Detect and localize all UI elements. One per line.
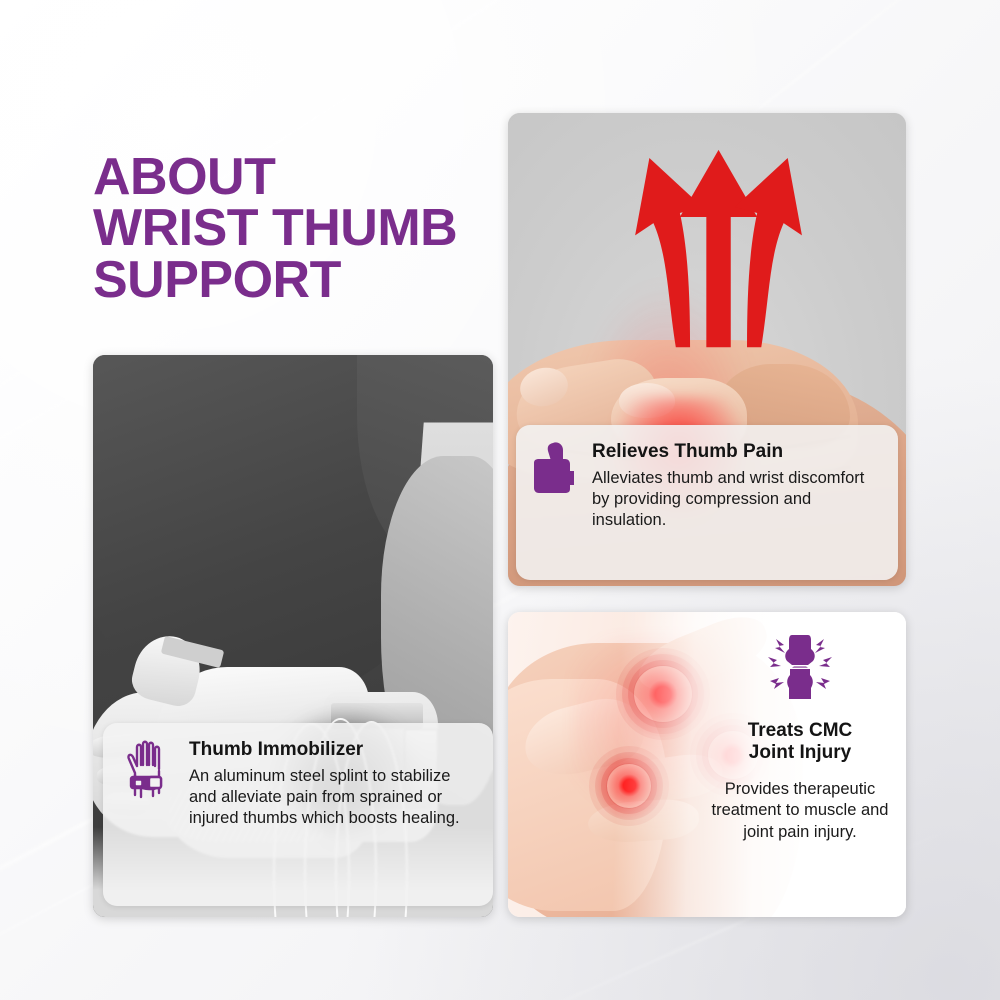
card-title: Thumb Immobilizer <box>189 739 475 762</box>
page-title: ABOUT WRIST THUMB SUPPORT <box>93 152 563 306</box>
joint-pain-icon <box>762 631 838 708</box>
wrist-brace-icon <box>532 441 578 500</box>
page-title-line-3: SUPPORT <box>93 255 563 306</box>
card-text-block: Relieves Thumb Pain Alleviates thumb and… <box>592 441 880 531</box>
card-title: Treats CMC Joint Injury <box>748 720 853 765</box>
card-title-line-1: Treats CMC <box>748 720 853 742</box>
page-title-line-1: ABOUT <box>93 152 563 203</box>
arrow-right-icon <box>735 158 802 347</box>
pain-relief-arrows-group <box>627 132 810 359</box>
feature-card-relieves-thumb-pain: Relieves Thumb Pain Alleviates thumb and… <box>516 425 898 580</box>
card-text-block: Thumb Immobilizer An aluminum steel spli… <box>189 739 475 829</box>
card-description: Alleviates thumb and wrist discomfort by… <box>592 468 880 531</box>
page-title-line-2: WRIST THUMB <box>93 203 563 254</box>
card-title-line-2: Joint Injury <box>748 742 853 764</box>
card-title: Relieves Thumb Pain <box>592 441 880 464</box>
arrow-left-icon <box>636 158 703 347</box>
arrow-center-icon <box>680 150 757 347</box>
card-description: Provides therapeutic treatment to muscle… <box>708 779 892 843</box>
card-description: An aluminum steel splint to stabilize an… <box>189 766 475 829</box>
hand-splint-icon <box>119 739 175 806</box>
feature-card-thumb-immobilizer: Thumb Immobilizer An aluminum steel spli… <box>103 723 493 906</box>
feature-card-treats-cmc-joint-injury: Treats CMC Joint Injury Provides therape… <box>700 625 900 910</box>
